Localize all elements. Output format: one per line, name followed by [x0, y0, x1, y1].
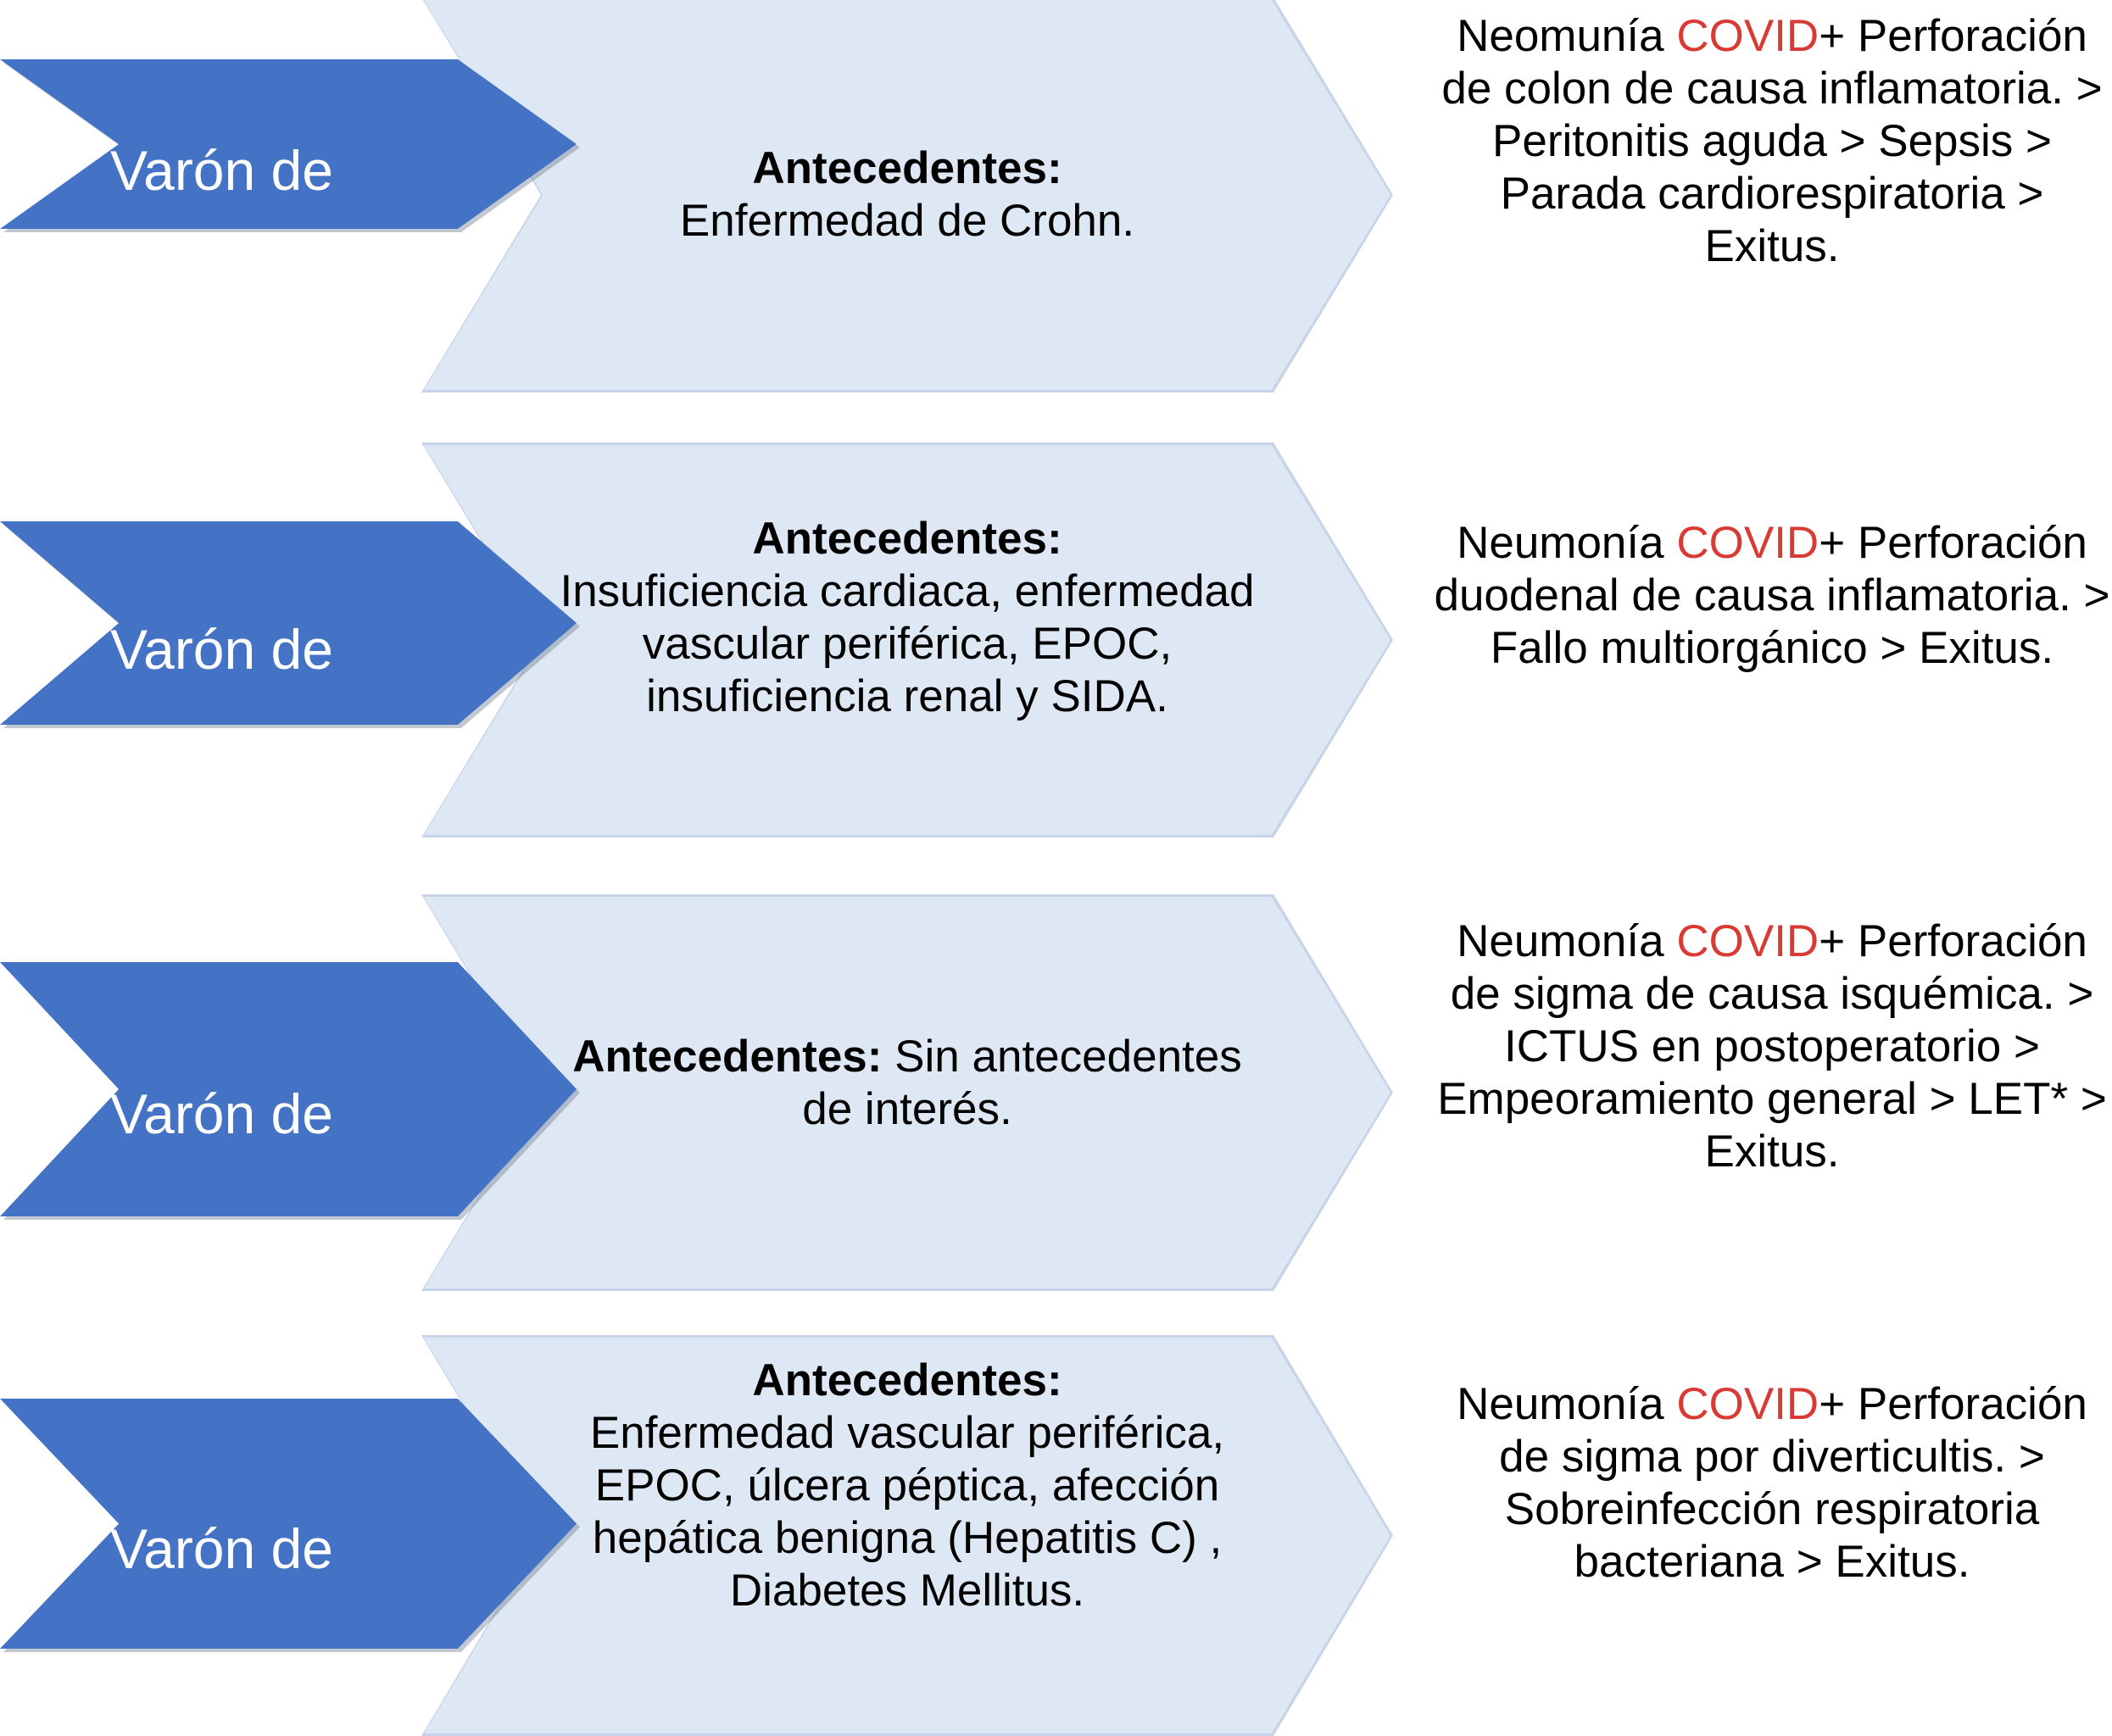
outcome-prefix: Neumonía [1457, 1379, 1676, 1429]
patient-sex-line: Varón de [110, 1082, 333, 1145]
outcome-prefix: Neumonía [1457, 518, 1676, 568]
outcome-plus: + [1819, 916, 1845, 966]
patient-age-line: 59 años [110, 750, 309, 813]
outcome-plus: + [1819, 518, 1845, 568]
case-row: Varón de 67 años Antecedentes: Enfermeda… [0, 1338, 2112, 1733]
outcome-text: Neumonía COVID+ Perforación duodenal de … [1433, 517, 2111, 675]
outcome-plus: + [1819, 11, 1845, 61]
covid-badge: COVID [1676, 518, 1819, 568]
patient-sex-line: Varón de [110, 139, 333, 202]
case-row: Varón de 59 años Antecedentes: Insuficie… [0, 445, 2112, 835]
covid-badge: COVID [1676, 1379, 1819, 1429]
patient-age-line: 67 años [110, 1650, 309, 1712]
history-text: Antecedentes: Enfermedad vascular perifé… [543, 1355, 1272, 1617]
outcome-prefix: Neomunía [1457, 11, 1676, 61]
covid-badge: COVID [1676, 916, 1819, 966]
history-header: Antecedentes: [572, 1032, 882, 1082]
patient-sex-line: Varón de [110, 1517, 333, 1580]
history-text: Antecedentes: Enfermedad de Crohn. [543, 142, 1272, 248]
history-text: Antecedentes: Insuficiencia cardiaca, en… [543, 513, 1272, 723]
patient-label: Varón de 71 años [110, 1015, 475, 1280]
patient-label: Varón de 59 años [110, 551, 475, 815]
patient-label: Varón de 34 años [110, 72, 475, 337]
outcome-text: Neumonía COVID+ Perforación de sigma de … [1433, 915, 2111, 1178]
case-row: Varón de 71 años Antecedentes: Sin antec… [0, 897, 2112, 1291]
patient-age-line: 34 años [110, 271, 309, 334]
history-body: Enfermedad de Crohn. [680, 196, 1134, 246]
outcome-prefix: Neumonía [1457, 916, 1676, 966]
patient-label: Varón de 67 años [110, 1450, 475, 1715]
outcome-text: Neomunía COVID+ Perforación de colon de … [1433, 10, 2111, 273]
history-header: Antecedentes: [752, 1355, 1062, 1405]
history-text: Antecedentes: Sin antecedentes de interé… [543, 1031, 1272, 1136]
outcome-text: Neumonía COVID+ Perforación de sigma por… [1433, 1378, 2111, 1589]
outcome-plus: + [1819, 1379, 1845, 1429]
patient-sex-line: Varón de [110, 618, 333, 681]
history-body: Enfermedad vascular periférica, EPOC, úl… [590, 1408, 1224, 1616]
patient-age-line: 71 años [110, 1215, 309, 1277]
case-row: Varón de 34 años Antecedentes: Enfermeda… [0, 0, 2112, 424]
history-header: Antecedentes: [752, 143, 1062, 193]
history-body: Insuficiencia cardiaca, enfermedad vascu… [560, 566, 1254, 721]
history-header: Antecedentes: [752, 514, 1062, 564]
covid-badge: COVID [1676, 11, 1819, 61]
